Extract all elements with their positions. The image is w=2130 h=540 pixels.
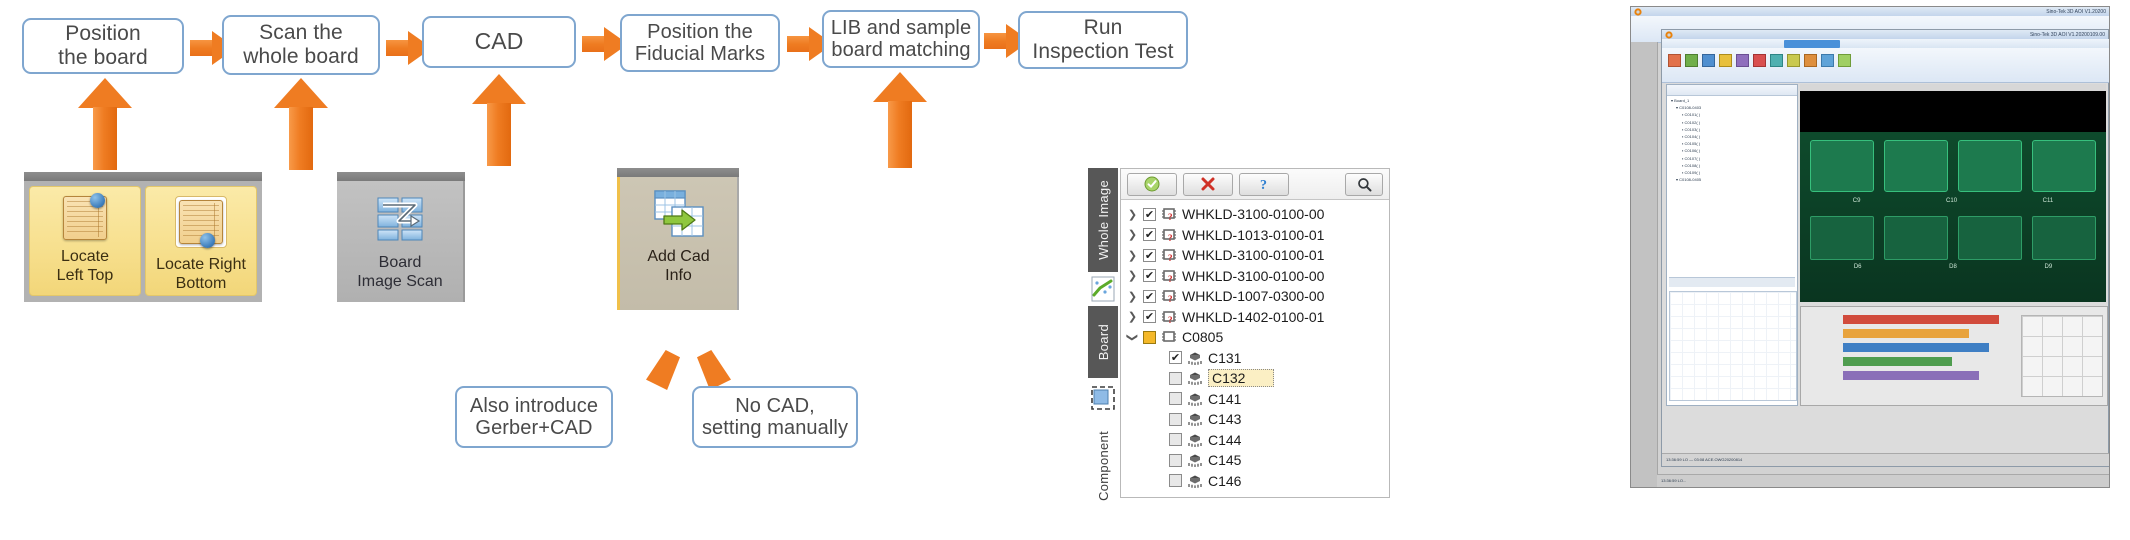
tree-row[interactable]: ❯✔?WHKLD-1402-0100-01 <box>1121 307 1389 328</box>
tree-row-label: C146 <box>1208 473 1241 489</box>
result-panel <box>1800 306 2108 406</box>
diagonal-arrow-left <box>646 350 680 390</box>
flow-step-run-test[interactable]: Run Inspection Test <box>1018 11 1188 69</box>
search-button[interactable] <box>1345 173 1383 196</box>
tab-board[interactable]: Board <box>1088 306 1118 378</box>
outer-left-rail <box>1631 42 1658 487</box>
component-tree-panel: Whole Image Board Componen <box>1088 168 1390 498</box>
inner-title: Sino-Tek 3D AOI V1.20200109.00 <box>2030 32 2105 38</box>
svg-text:?: ? <box>1168 315 1173 324</box>
row-checkbox[interactable] <box>1169 454 1182 467</box>
flow-step-lib-match[interactable]: LIB and sample board matching <box>822 10 980 68</box>
flow-step-label: Run Inspection Test <box>1032 16 1173 63</box>
tab-label: Board <box>1096 324 1111 360</box>
locate-right-bottom-button[interactable]: Locate Right Bottom <box>145 186 257 296</box>
svg-text:?: ? <box>1168 253 1173 262</box>
silk-label: D9 <box>2044 264 2052 274</box>
scatter-chart-icon[interactable] <box>1088 272 1118 306</box>
svg-text:?: ? <box>1168 294 1173 303</box>
flow-step-fiducial[interactable]: Position the Fiducial Marks <box>620 14 780 72</box>
locate-left-top-label: Locate Left Top <box>57 248 114 286</box>
svg-text:?: ? <box>1168 274 1173 283</box>
inner-tree-tabs <box>1669 277 1795 287</box>
row-checkbox[interactable]: ✔ <box>1143 290 1156 303</box>
locate-right-bottom-label: Locate Right Bottom <box>156 256 246 294</box>
tab-label: Component <box>1096 431 1111 501</box>
tree-row[interactable]: ❯✔?WHKLD-1007-0300-00 <box>1121 286 1389 307</box>
up-arrow-locate <box>78 78 132 170</box>
component-icon <box>1187 371 1203 385</box>
tree-row-label: WHKLD-1013-0100-01 <box>1182 227 1324 243</box>
note-pin-icon <box>63 196 107 240</box>
flow-step-label: CAD <box>475 29 524 55</box>
callout-label: No CAD, setting manually <box>702 395 848 440</box>
inner-bottom-grid <box>1669 291 1797 401</box>
diagonal-arrow-right <box>697 350 731 390</box>
chip-unknown-icon: ? <box>1161 310 1177 324</box>
tree-row-label: C132 <box>1208 369 1274 387</box>
tree-row-label: C143 <box>1208 411 1241 427</box>
silk-label: D6 <box>1854 264 1862 274</box>
tree-row[interactable]: C146 <box>1121 471 1389 492</box>
viewer-ruler <box>1800 84 2106 91</box>
chip-unknown-icon: ? <box>1161 248 1177 262</box>
row-checkbox[interactable] <box>1169 433 1182 446</box>
tree-row[interactable]: ✔C131 <box>1121 348 1389 369</box>
board-image-scan-label: Board Image Scan <box>357 253 442 291</box>
tree-row[interactable]: C132 <box>1121 368 1389 389</box>
locate-left-top-button[interactable]: Locate Left Top <box>29 186 141 296</box>
row-checkbox[interactable]: ✔ <box>1143 249 1156 262</box>
panel-add-cad-info: Add Cad Info <box>617 168 739 310</box>
panel-cap <box>617 168 739 177</box>
tree-row-label: C131 <box>1208 350 1241 366</box>
chevron-right-icon[interactable]: ❯ <box>1127 249 1138 262</box>
tree-row-label: WHKLD-3100-0100-00 <box>1182 206 1324 222</box>
note-pin-icon <box>175 196 227 248</box>
flow-step-label: Position the board <box>58 22 148 69</box>
tree-row[interactable]: ❯✔?WHKLD-1013-0100-01 <box>1121 225 1389 246</box>
chip-unknown-icon: ? <box>1161 289 1177 303</box>
outer-status-bar: 13:36:59 LO... <box>1657 474 2110 487</box>
table-import-icon <box>652 189 706 239</box>
vertical-tab-strip: Whole Image Board Componen <box>1088 168 1118 514</box>
tree-rows: ❯✔?WHKLD-3100-0100-00❯✔?WHKLD-1013-0100-… <box>1121 200 1389 491</box>
chevron-right-icon[interactable]: ❯ <box>1127 310 1138 323</box>
active-ribbon-tab[interactable] <box>1784 40 1840 48</box>
inner-left-tree: ▾ Board_1 ▾ C0108-0403 ▪ C0101( ) ▪ C010… <box>1666 84 1798 406</box>
row-checkbox[interactable] <box>1169 474 1182 487</box>
chevron-down-icon[interactable]: ❯ <box>1126 332 1139 343</box>
chevron-right-icon[interactable]: ❯ <box>1127 269 1138 282</box>
inner-status-bar: 13:36:59 LO — 03:08 ACE.OWG20200814 <box>1662 453 2110 466</box>
row-checkbox[interactable] <box>1143 331 1156 344</box>
row-checkbox[interactable]: ✔ <box>1143 208 1156 221</box>
diagram-canvas: Position the board Scan the whole board … <box>0 0 2130 540</box>
tree-row[interactable]: C144 <box>1121 430 1389 451</box>
tree-toolbar: ? <box>1121 169 1389 200</box>
ribbon-icon-row <box>1668 52 2104 68</box>
tab-component[interactable]: Component <box>1088 418 1118 514</box>
flow-step-cad[interactable]: CAD <box>422 16 576 68</box>
chevron-right-icon[interactable]: ❯ <box>1127 208 1138 221</box>
tree-row[interactable]: C145 <box>1121 450 1389 471</box>
flow-step-label: LIB and sample board matching <box>831 17 971 62</box>
accept-button[interactable] <box>1127 173 1177 196</box>
tree-row-label: C144 <box>1208 432 1241 448</box>
row-checkbox[interactable]: ✔ <box>1143 269 1156 282</box>
chip-unknown-icon: ? <box>1161 207 1177 221</box>
inner-tree-rows: ▾ Board_1 ▾ C0108-0403 ▪ C0101( ) ▪ C010… <box>1671 97 1795 217</box>
tree-body: ? ❯✔?WHKLD-3100-0100-00❯✔?WHKLD-1013-010… <box>1120 168 1390 498</box>
svg-text:?: ? <box>1168 212 1173 221</box>
flow-step-label: Scan the whole board <box>243 21 359 68</box>
add-cad-info-label: Add Cad Info <box>647 247 709 285</box>
silk-label: D8 <box>1949 264 1957 274</box>
flow-step-position-board[interactable]: Position the board <box>22 18 184 74</box>
callout-label: Also introduce Gerber+CAD <box>470 395 598 440</box>
up-arrow-lib <box>873 72 927 168</box>
row-checkbox[interactable] <box>1169 392 1182 405</box>
panel-board-image-scan: Board Image Scan <box>337 172 465 302</box>
inner-tree-header <box>1667 85 1797 96</box>
component-icon <box>1187 453 1203 467</box>
serpentine-scan-icon <box>375 195 425 243</box>
tree-row-label: WHKLD-3100-0100-01 <box>1182 247 1324 263</box>
component-icon <box>1187 351 1203 365</box>
result-thumbnails <box>2021 315 2103 397</box>
chip-unknown-icon: ? <box>1161 228 1177 242</box>
component-icon <box>1187 412 1203 426</box>
svg-text:?: ? <box>1168 233 1173 242</box>
svg-text:?: ? <box>1260 178 1267 192</box>
tree-row-label: WHKLD-1402-0100-01 <box>1182 309 1324 325</box>
tree-row[interactable]: ❯✔?WHKLD-3100-0100-01 <box>1121 245 1389 266</box>
outer-title: Sino-Tek 3D AOI V1.20200 <box>2046 9 2106 15</box>
selection-box-icon[interactable] <box>1088 378 1118 418</box>
tree-row[interactable]: ❯✔?WHKLD-3100-0100-00 <box>1121 204 1389 225</box>
reject-button[interactable] <box>1183 173 1233 196</box>
row-checkbox[interactable]: ✔ <box>1143 310 1156 323</box>
tree-row-label: C0805 <box>1182 329 1223 345</box>
up-arrow-scan <box>274 78 328 170</box>
board-image-scan-button[interactable]: Board Image Scan <box>337 181 465 302</box>
component-icon <box>1187 474 1203 488</box>
unknown-button[interactable]: ? <box>1239 173 1289 196</box>
result-bars <box>1843 315 2013 395</box>
panel-locate: Locate Left Top Locate Right Bottom <box>24 172 262 302</box>
silk-label: C10 <box>1946 198 1957 208</box>
app-screenshot: Sino-Tek 3D AOI V1.20200 13:36:59 LO... … <box>1630 6 2110 488</box>
tree-row[interactable]: C143 <box>1121 409 1389 430</box>
inner-window: Sino-Tek 3D AOI V1.20200109.00 <box>1661 29 2109 467</box>
pcb-viewer: C9 C10 C11 D6 D8 D9 <box>1800 84 2106 302</box>
row-checkbox[interactable]: ✔ <box>1169 351 1182 364</box>
tree-row-label: WHKLD-1007-0300-00 <box>1182 288 1324 304</box>
tree-row-label: C141 <box>1208 391 1241 407</box>
callout-no-cad[interactable]: No CAD, setting manually <box>692 386 858 448</box>
component-icon <box>1187 392 1203 406</box>
silk-label: C11 <box>2043 198 2054 208</box>
component-icon <box>1187 433 1203 447</box>
row-checkbox[interactable] <box>1169 372 1182 385</box>
tree-row[interactable]: C141 <box>1121 389 1389 410</box>
flow-step-scan-board[interactable]: Scan the whole board <box>222 15 380 75</box>
chevron-right-icon[interactable]: ❯ <box>1127 228 1138 241</box>
add-cad-info-button[interactable]: Add Cad Info <box>617 177 739 310</box>
chip-icon <box>1161 330 1177 344</box>
chevron-right-icon[interactable]: ❯ <box>1127 290 1138 303</box>
tree-row-label: C145 <box>1208 452 1241 468</box>
tree-row[interactable]: ❯✔?WHKLD-3100-0100-00 <box>1121 266 1389 287</box>
tab-label: Whole Image <box>1096 180 1111 260</box>
panel-cap <box>24 172 262 181</box>
callout-gerber-cad[interactable]: Also introduce Gerber+CAD <box>455 386 613 448</box>
panel-cap <box>337 172 465 181</box>
flow-step-label: Position the Fiducial Marks <box>635 21 765 66</box>
pcb-image: C9 C10 C11 D6 D8 D9 <box>1800 132 2106 302</box>
row-checkbox[interactable] <box>1169 413 1182 426</box>
silk-label: C9 <box>1853 198 1861 208</box>
chip-unknown-icon: ? <box>1161 269 1177 283</box>
tree-row-label: WHKLD-3100-0100-00 <box>1182 268 1324 284</box>
tree-row[interactable]: ❯C0805 <box>1121 327 1389 348</box>
up-arrow-cad <box>472 74 526 166</box>
inner-status-text: 13:36:59 LO — 03:08 ACE.OWG20200814 <box>1666 457 1742 462</box>
row-checkbox[interactable]: ✔ <box>1143 228 1156 241</box>
outer-status-text: 13:36:59 LO... <box>1661 478 1686 483</box>
tab-whole-image[interactable]: Whole Image <box>1088 168 1118 272</box>
